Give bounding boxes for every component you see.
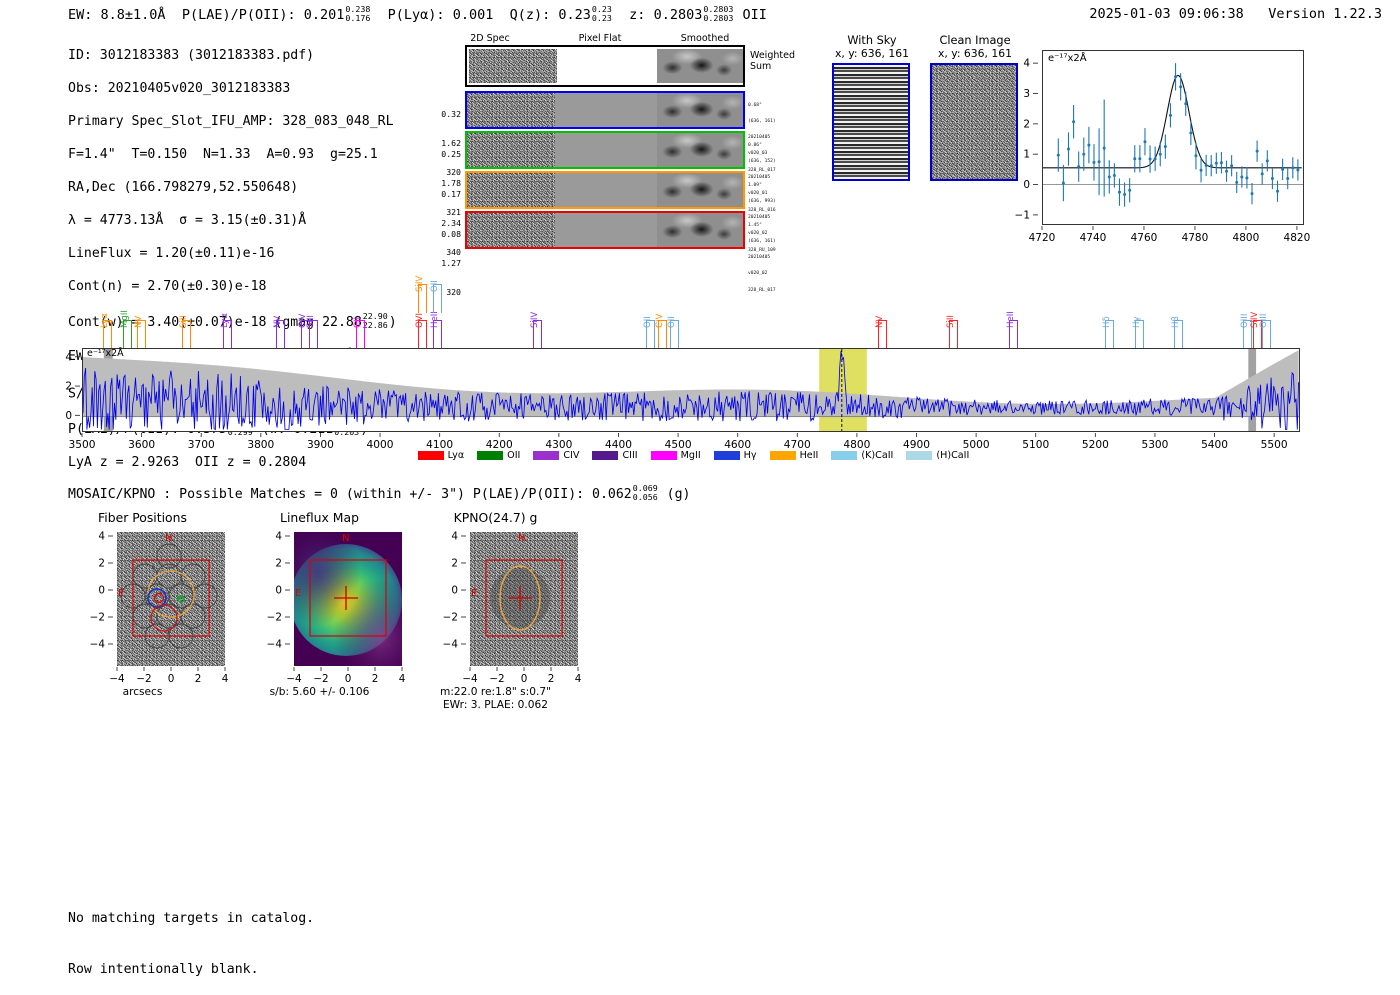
svg-text:2: 2 [372, 673, 379, 685]
info-seeing-params: F=1.4" T=0.150 N=1.33 A=0.93 g=25.1 [68, 147, 397, 164]
fiber-pixelflat-image [557, 173, 653, 207]
full-spectrum-yticks: 024 [56, 348, 80, 432]
full-spectrum-units: e⁻¹⁷x2Å [87, 348, 124, 359]
fiber-row-frame [465, 171, 745, 209]
panel-yticks: 420−2−4 [85, 528, 115, 670]
svg-text:4820: 4820 [1284, 232, 1311, 244]
mosaic-plae-value: 0.062 [592, 487, 632, 502]
svg-text:0: 0 [275, 585, 282, 597]
svg-text:4: 4 [98, 531, 105, 543]
panel-title: Lineflux Map [232, 510, 407, 525]
panel-yticks: 420−2−4 [438, 528, 468, 670]
emission-line-tick [1135, 320, 1144, 349]
legend-label: (H)CaII [936, 450, 969, 461]
z-label: z: [629, 7, 645, 23]
fiber-2dspec-image [467, 213, 555, 247]
svg-text:2: 2 [195, 673, 202, 685]
spectrum-legend: LyαOIICIVCIIIMgIIHγHeII(K)CaII(H)CaII [0, 445, 1400, 464]
svg-text:−2: −2 [267, 612, 282, 624]
fiber-2dspec-image [467, 133, 555, 167]
emission-line-tick [1009, 320, 1018, 349]
fiber-smoothed-image [657, 213, 743, 247]
svg-text:0: 0 [521, 673, 528, 685]
legend-swatch [418, 451, 444, 460]
legend-label: Hγ [744, 450, 757, 461]
fiber-row: 0.25 1.78 321 0.86" (636, 152) 20210405 … [425, 131, 810, 169]
panel-xticks: −4−2024 [95, 667, 245, 685]
panel-title: Fiber Positions [55, 510, 230, 525]
fiber-pixelflat-image [557, 133, 653, 167]
spec2d-title-smoothed: Smoothed [660, 33, 750, 44]
emission-line-tick [182, 320, 191, 349]
svg-text:4760: 4760 [1131, 232, 1158, 244]
version: Version 1.22.3 [1268, 6, 1382, 22]
legend-label: CIII [622, 450, 637, 461]
legend-label: CIV [563, 450, 579, 461]
z-type: OII [742, 7, 766, 23]
spec2d-title-2dspec: 2D Spec [445, 33, 535, 44]
plae-range: 0.2380.176 [345, 5, 370, 22]
emission-line-tick [309, 320, 318, 349]
svg-text:−1: −1 [1015, 209, 1030, 221]
emission-line-tick [1262, 320, 1271, 349]
legend-swatch [831, 451, 857, 460]
legend-swatch [770, 451, 796, 460]
svg-text:2: 2 [451, 558, 458, 570]
fiber-pixelflat-image [557, 93, 653, 127]
compass-east: E [471, 588, 477, 599]
panel-image-frame: N E [294, 532, 402, 666]
info-id: ID: 3012183383 (3012183383.pdf) [68, 48, 397, 65]
z-value: 0.2803 [654, 7, 703, 23]
panel-lineflux-map: Lineflux Map [232, 510, 407, 720]
svg-text:0: 0 [1023, 179, 1030, 191]
bottom-note-line1: No matching targets in catalog. [68, 910, 314, 927]
svg-text:4: 4 [65, 351, 72, 363]
panel-title: KPNO(24.7) g [408, 510, 583, 525]
fiber-smoothed-image [657, 173, 743, 207]
clean-image-coords: x, y: 636, 161 [926, 47, 1024, 60]
fiber-row-frame [465, 131, 745, 169]
panel-image-frame: N E [470, 532, 578, 666]
emission-line-tick [418, 284, 427, 313]
panel-caption: arcsecs [55, 686, 230, 699]
svg-text:4: 4 [222, 673, 229, 685]
fiber-2dspec-image [467, 93, 555, 127]
panel-kpno: KPNO(24.7) g N E 420−2−4 −4−2024 m:22.0 … [408, 510, 583, 720]
spec2d-title-pixelflat: Pixel Flat [555, 33, 645, 44]
info-lineflux: LineFlux = 1.20(±0.11)e-16 [68, 246, 397, 263]
panel-yticks: 420−2−4 [262, 528, 292, 670]
svg-text:0: 0 [451, 585, 458, 597]
svg-text:4: 4 [1023, 58, 1030, 70]
bottom-note: No matching targets in catalog. Row inte… [68, 876, 314, 995]
compass-east: E [118, 588, 124, 599]
full-spectrum-plot: e⁻¹⁷x2Å [82, 348, 1300, 432]
legend-swatch [906, 451, 932, 460]
clean-image-title: Clean Image [926, 34, 1024, 47]
legend-label: MgII [681, 450, 701, 461]
svg-text:0: 0 [65, 410, 72, 422]
qz-value: 0.23 [558, 7, 591, 23]
panel-caption-2: EWr: 3. PLAE: 0.062 [408, 699, 583, 712]
mosaic-text: MOSAIC/KPNO : Possible Matches = 0 (with… [68, 487, 584, 502]
clean-image-cutout: Clean Image x, y: 636, 161 [926, 34, 1024, 249]
with-sky-title: With Sky [826, 34, 918, 47]
with-sky-coords: x, y: 636, 161 [826, 47, 918, 60]
emission-line-tick [137, 320, 146, 349]
emission-line-tick [418, 320, 427, 349]
line-profile-xticks: 472047404760478048004820 [1012, 226, 1332, 246]
timestamp: 2025-01-03 09:06:38 [1089, 6, 1243, 22]
line-profile-plot: e⁻¹⁷x2Å [1042, 50, 1304, 225]
emission-line-tick [433, 320, 442, 349]
fiber-pixelflat-image [557, 213, 653, 247]
fiber-row: 0.32 1.62 320 0.68" (636, 161) 20210405 … [425, 91, 810, 129]
svg-text:3: 3 [1023, 88, 1030, 100]
plya-value: 0.001 [453, 7, 494, 23]
svg-text:4780: 4780 [1182, 232, 1209, 244]
legend-label: HeII [800, 450, 819, 461]
ew-label: EW: [68, 7, 92, 23]
svg-text:4: 4 [275, 531, 282, 543]
panel-xticks: −4−2024 [448, 667, 598, 685]
emission-line-tick [670, 320, 679, 349]
svg-text:4740: 4740 [1080, 232, 1107, 244]
lineflux-map-image [294, 532, 402, 666]
legend-swatch [592, 451, 618, 460]
svg-text:4720: 4720 [1029, 232, 1056, 244]
svg-text:−4: −4 [267, 639, 283, 651]
emission-line-tick [1105, 320, 1114, 349]
weighted-sum-2dspec-image [469, 49, 557, 83]
weighted-sum-row [465, 45, 745, 87]
info-lambda-sigma: λ = 4773.13Å σ = 3.15(±0.31)Å [68, 213, 397, 230]
qz-range: 0.230.23 [592, 5, 612, 22]
fiber-2dspec-image [467, 173, 555, 207]
svg-text:4: 4 [399, 673, 406, 685]
mosaic-kpno-summary: MOSAIC/KPNO : Possible Matches = 0 (with… [68, 484, 691, 502]
fiber-positions-overlay [117, 532, 225, 666]
qz-label: Q(z): [510, 7, 551, 23]
ew-value: 8.8±1.0Å [101, 7, 166, 23]
svg-text:−4: −4 [286, 673, 302, 685]
emission-line-tick [533, 320, 542, 349]
legend-swatch [533, 451, 559, 460]
panel-caption: m:22.0 re:1.8" s:0.7" [408, 686, 583, 699]
svg-text:−2: −2 [489, 673, 504, 685]
svg-text:2: 2 [65, 381, 72, 393]
svg-text:4800: 4800 [1233, 232, 1260, 244]
with-sky-cutout: With Sky x, y: 636, 161 [826, 34, 918, 249]
svg-text:−4: −4 [90, 639, 106, 651]
svg-text:−2: −2 [313, 673, 328, 685]
spec2d-panel: 2D Spec Pixel Flat Smoothed Weighted Sum… [425, 33, 810, 248]
z-range: 0.28030.2803 [703, 5, 733, 22]
fiber-row: 0.17 2.34 340 1.09" (636, 993) 20210405 … [425, 171, 810, 209]
fiber-row-frame [465, 91, 745, 129]
full-spectrum-svg [83, 349, 1299, 431]
legend-swatch [651, 451, 677, 460]
mosaic-band: (g) [667, 487, 691, 502]
svg-text:2: 2 [98, 558, 105, 570]
emission-line-tick [878, 320, 887, 349]
emission-line-tick [223, 320, 232, 349]
weighted-sum-label: Weighted Sum [750, 50, 795, 72]
fiber-smoothed-image [657, 133, 743, 167]
plae-value: 0.201 [304, 7, 345, 23]
clean-image [930, 63, 1018, 181]
weighted-sum-smoothed-image [657, 49, 743, 83]
info-radec: RA,Dec (166.798279,52.550648) [68, 180, 397, 197]
legend-label: Lyα [448, 450, 464, 461]
svg-text:2: 2 [1023, 118, 1030, 130]
with-sky-image [832, 63, 910, 181]
compass-north: N [342, 533, 349, 544]
fiber-row: 0.08 1.27 320 1.45" (636, 161) 20210405 … [425, 211, 810, 249]
panel-xticks: −4−2024 [272, 667, 422, 685]
emission-line-tick [949, 320, 958, 349]
bottom-note-line2: Row intentionally blank. [68, 961, 314, 978]
plae-label: P(LAE)/P(OII): [182, 7, 296, 23]
panel-fiber-positions: Fiber Positions N E 420−2−4 −4−2024 arcs… [55, 510, 230, 720]
emission-line-tick [433, 284, 442, 313]
svg-text:0: 0 [98, 585, 105, 597]
legend-swatch [714, 451, 740, 460]
legend-label: (K)CaII [861, 450, 893, 461]
svg-text:−4: −4 [443, 639, 459, 651]
emission-line-tick [356, 320, 365, 349]
svg-text:0: 0 [345, 673, 352, 685]
fiber-smoothed-image [657, 93, 743, 127]
svg-text:−4: −4 [462, 673, 478, 685]
info-primary-spec: Primary Spec_Slot_IFU_AMP: 328_083_048_R… [68, 114, 397, 131]
compass-east: E [295, 588, 301, 599]
svg-text:0: 0 [168, 673, 175, 685]
compass-north: N [165, 533, 172, 544]
plya-label: P(Lyα): [388, 7, 445, 23]
kpno-overlay [470, 532, 578, 666]
header-timestamp-version: 2025-01-03 09:06:38 Version 1.22.3 [1089, 6, 1382, 22]
emission-line-tick [103, 320, 112, 349]
panel-caption: s/b: 5.60 +/- 0.106 [232, 686, 407, 699]
svg-text:1: 1 [1023, 149, 1030, 161]
svg-text:4: 4 [451, 531, 458, 543]
emission-line-tick [1174, 320, 1183, 349]
header-summary-row: EW: 8.8±1.0Å P(LAE)/P(OII): 0.2010.2380.… [68, 5, 767, 23]
legend-label: OII [507, 450, 520, 461]
panel-image-frame: N E [117, 532, 225, 666]
svg-text:−2: −2 [136, 673, 151, 685]
fiber-rows: 0.32 1.62 320 0.68" (636, 161) 20210405 … [425, 91, 810, 251]
svg-text:−2: −2 [90, 612, 105, 624]
info-obs: Obs: 20210405v020_3012183383 [68, 81, 397, 98]
emission-line-tick [276, 320, 285, 349]
svg-text:−2: −2 [443, 612, 458, 624]
svg-text:2: 2 [548, 673, 555, 685]
svg-text:−4: −4 [109, 673, 125, 685]
mosaic-plae-range: 0.0690.056 [633, 484, 658, 501]
compass-north: N [518, 533, 525, 544]
emission-line-markers: LyαMgIINVSiIILyαNVCIVSiIICIIOVISiIVHeIIO… [0, 282, 1400, 350]
legend-swatch [477, 451, 503, 460]
fiber-row-frame [465, 211, 745, 249]
svg-text:2: 2 [275, 558, 282, 570]
svg-text:4: 4 [575, 673, 582, 685]
line-profile-svg [1043, 51, 1303, 224]
line-profile-yticks: −101234 [1012, 50, 1038, 225]
emission-line-tick [123, 320, 132, 349]
